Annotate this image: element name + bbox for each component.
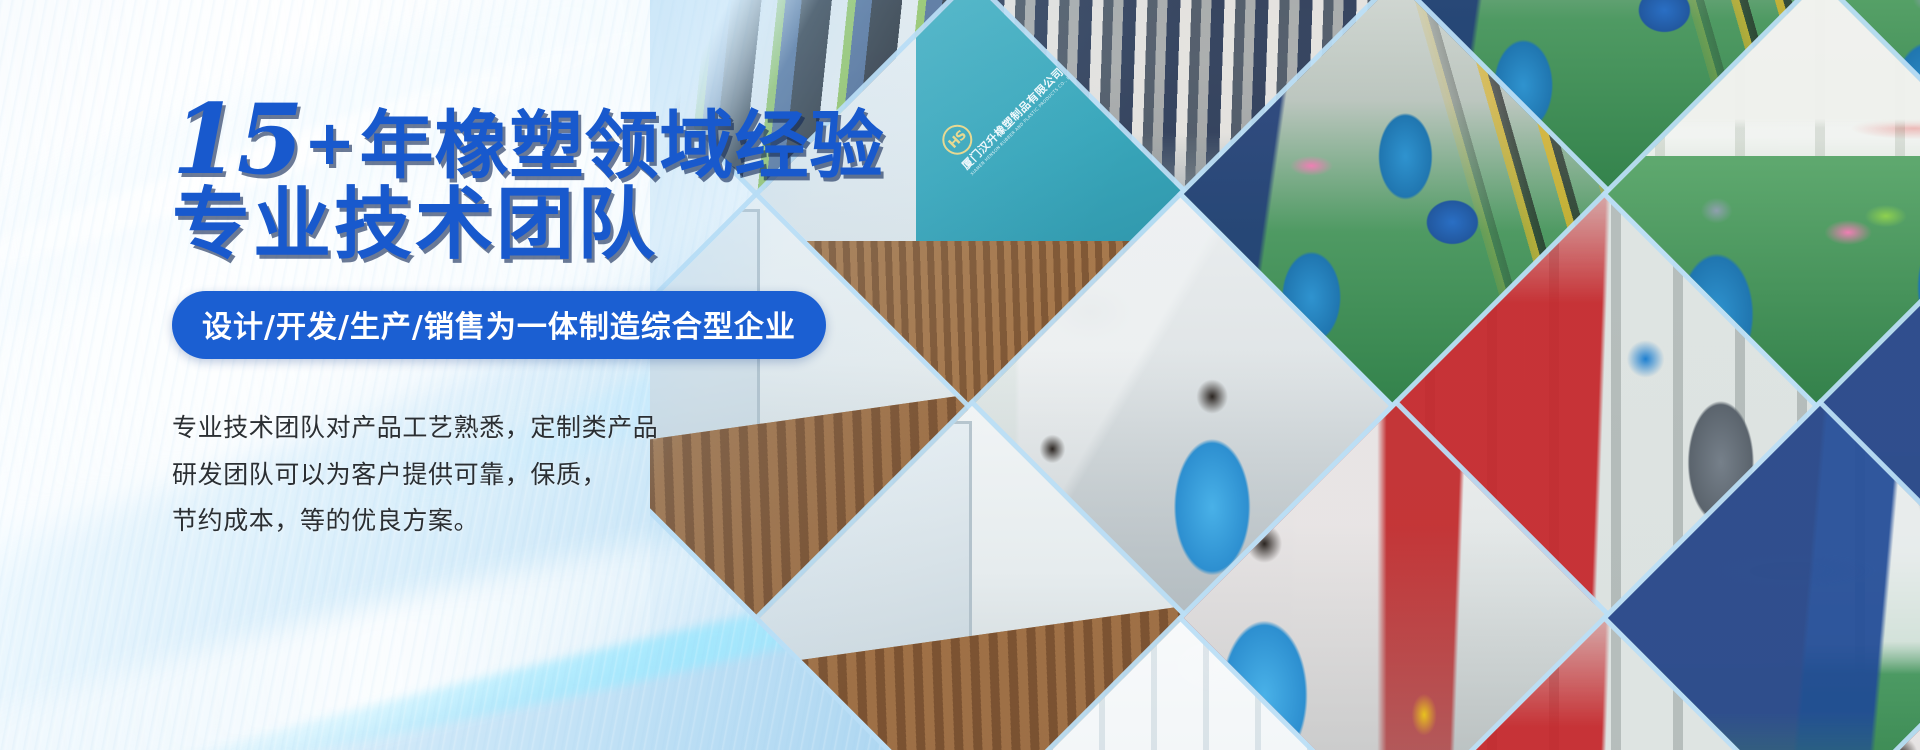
headline-line-1-text: 年橡塑领域经验 [360, 111, 885, 184]
banner-content: 15 + 年橡塑领域经验 专业技术团队 设计/开发/生产/销售为一体制造综合型企… [0, 0, 900, 750]
description-line-1: 专业技术团队对产品工艺熟悉，定制类产品 [172, 405, 900, 452]
promo-banner: 检测区 HS 厦门汉升橡塑制品有限公司 XIAMEN HENSON RUBBER… [0, 0, 1920, 750]
company-logo-icon: HS [936, 118, 978, 160]
headline: 15 + 年橡塑领域经验 专业技术团队 [172, 96, 900, 265]
description-line-3: 节约成本，等的优良方案。 [172, 498, 900, 545]
headline-line-1: 15 + 年橡塑领域经验 [172, 96, 900, 184]
headline-line-2-text: 专业技术团队 [172, 188, 658, 265]
tagline-pill: 设计/开发/生产/销售为一体制造综合型企业 [172, 291, 826, 359]
description-line-2: 研发团队可以为客户提供可靠，保质， [172, 452, 900, 499]
description-paragraph: 专业技术团队对产品工艺熟悉，定制类产品 研发团队可以为客户提供可靠，保质， 节约… [172, 405, 900, 545]
years-number: 15 [172, 96, 302, 184]
headline-line-2: 专业技术团队 [172, 188, 900, 265]
plus-sign: + [302, 112, 360, 184]
